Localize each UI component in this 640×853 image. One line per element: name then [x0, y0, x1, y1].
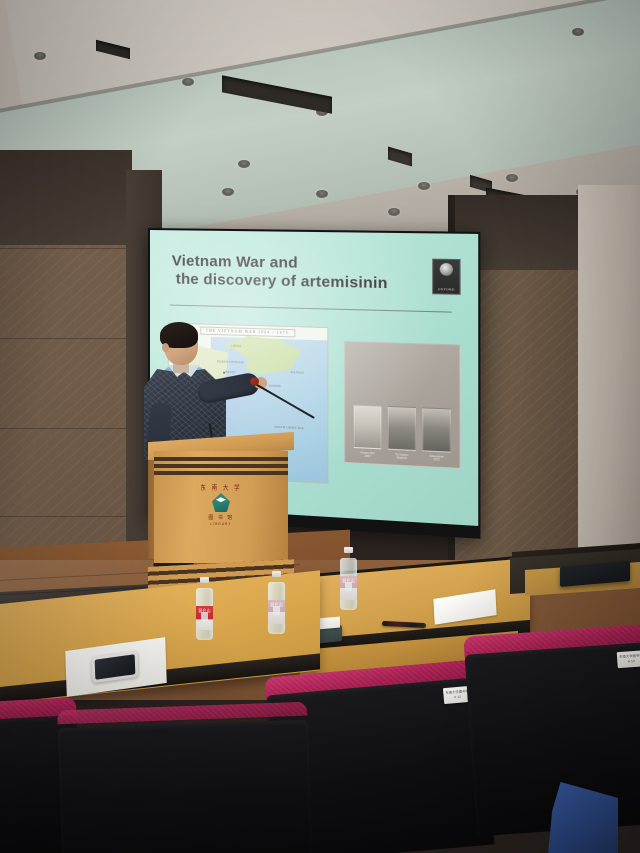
seat-label-line3: A 12	[454, 695, 462, 700]
downlight-icon	[388, 208, 400, 216]
auditorium-chair[interactable]	[57, 702, 313, 853]
wall-left-upper-dark	[0, 150, 132, 245]
bottle-cap	[200, 577, 209, 583]
oxford-crest-icon: OXFORD	[432, 259, 460, 295]
bottle-neck	[201, 612, 208, 621]
portrait-item: Project 523 1967	[354, 404, 382, 460]
portrait-item: Artemisinin 1972	[422, 407, 450, 463]
chair-back	[58, 720, 313, 853]
water-bottle: 昆仑山	[268, 572, 285, 634]
portrait-caption: 1972	[433, 458, 439, 462]
downlight-icon	[238, 160, 250, 168]
podium-emblem-icon	[212, 493, 230, 512]
downlight-icon	[506, 174, 518, 182]
downlight-icon	[418, 182, 430, 190]
seat-number-label: 东南大学图书馆 A 13	[617, 650, 640, 668]
portrait-photo	[388, 405, 416, 450]
smartphone-screen	[95, 654, 136, 680]
downlight-icon	[222, 188, 234, 196]
slide-title: Vietnam War and the discovery of artemis…	[172, 252, 405, 294]
podium-emblem-university-name: 东 南 大 学	[200, 482, 241, 491]
slide-title-line1: Vietnam War and	[172, 252, 298, 271]
column-right	[578, 185, 640, 605]
portrait-photo	[422, 407, 450, 452]
lecture-hall-scene: Vietnam War and the discovery of artemis…	[0, 0, 640, 853]
historic-photo-panel: Project 523 1967 Tu Youyou Qinghao Artem…	[344, 341, 460, 469]
water-bottle: 昆仑山	[196, 578, 213, 640]
downlight-icon	[182, 78, 194, 86]
downlight-icon	[572, 28, 584, 36]
bottle-neck	[345, 582, 352, 591]
downlight-icon	[34, 52, 46, 60]
portrait-item: Tu Youyou Qinghao	[388, 405, 416, 461]
seat-label-line3: A 13	[628, 659, 636, 664]
downlight-icon	[316, 190, 328, 198]
water-bottle: 昆仑山	[340, 548, 357, 610]
podium-band	[154, 464, 288, 468]
slide-title-rule	[170, 305, 452, 313]
podium-emblem-library-en: LIBRARY	[210, 522, 231, 526]
slide-title-line2: the discovery of artemisinin	[176, 271, 405, 294]
oxford-wordmark: OXFORD	[438, 287, 455, 292]
podium-emblem: 东 南 大 学 图 书 馆 LIBRARY	[186, 483, 256, 526]
speaker-ear	[162, 343, 169, 352]
bottle-cap	[344, 547, 353, 553]
podium-emblem-library-cn: 图 书 馆	[208, 514, 233, 521]
portrait-caption: 1967	[364, 455, 370, 459]
portrait-caption: Qinghao	[397, 457, 408, 461]
bottle-neck	[273, 606, 280, 615]
map-label: HAINAN	[291, 370, 304, 375]
pointer-grip-icon	[250, 377, 259, 386]
crest-shield-icon	[440, 263, 453, 276]
podium-band	[154, 471, 288, 475]
podium-band	[154, 457, 288, 461]
bottle-cap	[272, 571, 281, 577]
portrait-photo	[354, 404, 382, 449]
